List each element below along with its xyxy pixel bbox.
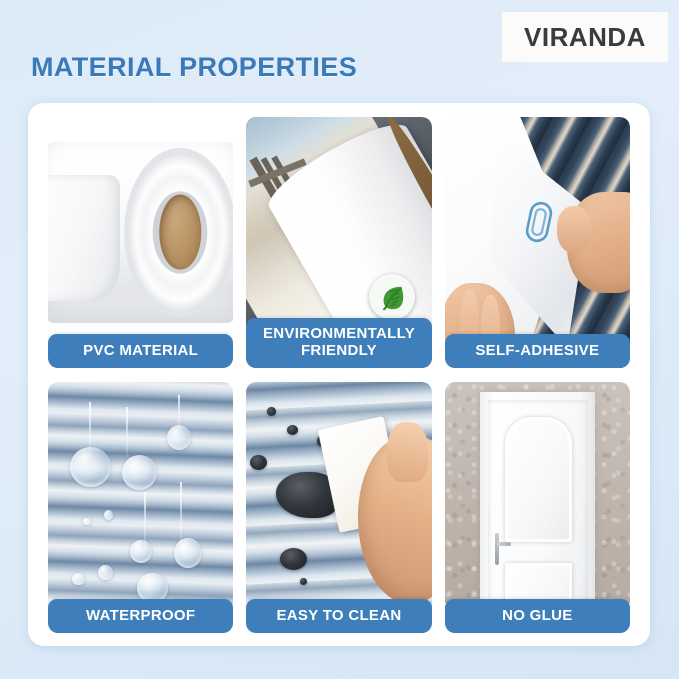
water-drop-icon [48,382,233,633]
self-adhesive-image [445,117,630,368]
feature-card-pvc-material[interactable]: PVC MATERIAL [48,117,233,368]
leaf-icon [369,274,415,320]
brand-name: VIRANDA [524,22,646,53]
feature-label-self-adhesive: SELF-ADHESIVE [445,334,630,368]
wipe-cloth-icon [246,382,431,633]
feature-label-easy-to-clean: EASY TO CLEAN [246,599,431,633]
brand-logo: VIRANDA [502,12,668,62]
feature-card-no-glue[interactable]: NO GLUE [445,382,630,633]
feature-label-no-glue: NO GLUE [445,599,630,633]
feature-card-easy-to-clean[interactable]: EASY TO CLEAN [246,382,431,633]
feature-label-line1: ENVIRONMENTALLY [263,325,415,342]
pvc-roll-icon [48,117,233,368]
feature-label-line2: FRIENDLY [301,342,377,359]
feature-label-environmentally-friendly: ENVIRONMENTALLY FRIENDLY [246,318,431,368]
features-grid: PVC MATERIAL ENVIRONMENTALLY FRIENDLY [48,117,630,633]
door-icon [445,382,630,633]
page-title: MATERIAL PROPERTIES [31,52,357,83]
feature-label-pvc-material: PVC MATERIAL [48,334,233,368]
features-panel: PVC MATERIAL ENVIRONMENTALLY FRIENDLY [28,103,650,646]
feature-card-environmentally-friendly[interactable]: ENVIRONMENTALLY FRIENDLY [246,117,431,368]
feature-card-self-adhesive[interactable]: SELF-ADHESIVE [445,117,630,368]
feature-label-waterproof: WATERPROOF [48,599,233,633]
feature-card-waterproof[interactable]: WATERPROOF [48,382,233,633]
